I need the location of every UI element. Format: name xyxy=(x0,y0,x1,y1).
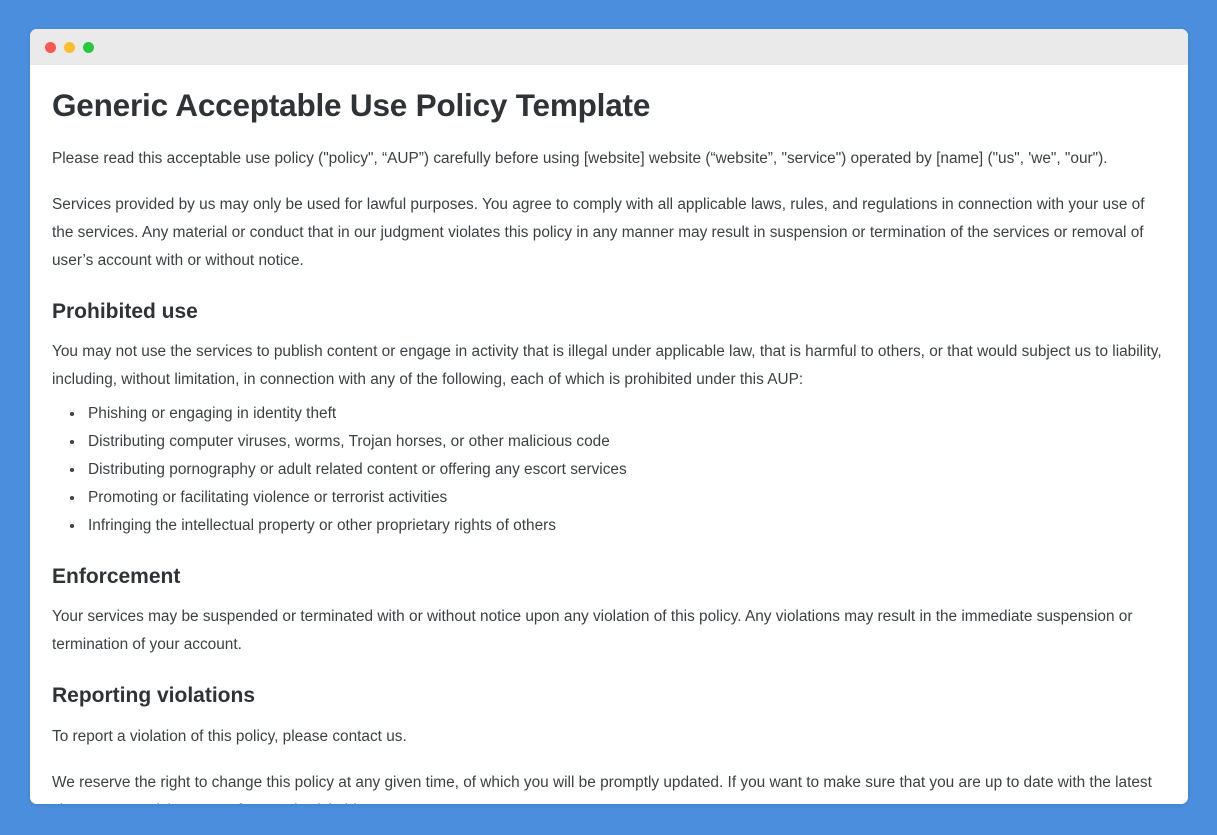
closing-paragraph: We reserve the right to change this poli… xyxy=(52,769,1162,804)
close-button[interactable] xyxy=(45,42,56,53)
section-paragraph-reporting-violations: To report a violation of this policy, pl… xyxy=(52,723,1162,751)
section-heading-enforcement: Enforcement xyxy=(52,564,1162,590)
browser-window: Generic Acceptable Use Policy Template P… xyxy=(30,29,1188,804)
list-item: Distributing pornography or adult relate… xyxy=(70,456,1162,484)
section-heading-reporting-violations: Reporting violations xyxy=(52,683,1162,709)
page-title: Generic Acceptable Use Policy Template xyxy=(52,87,1162,125)
document-body: Generic Acceptable Use Policy Template P… xyxy=(30,65,1188,804)
intro-paragraph-1: Please read this acceptable use policy (… xyxy=(52,145,1162,173)
list-item: Promoting or facilitating violence or te… xyxy=(70,484,1162,512)
list-item: Distributing computer viruses, worms, Tr… xyxy=(70,428,1162,456)
maximize-button[interactable] xyxy=(83,42,94,53)
list-item: Phishing or engaging in identity theft xyxy=(70,400,1162,428)
prohibited-use-list: Phishing or engaging in identity theft D… xyxy=(52,400,1162,540)
minimize-button[interactable] xyxy=(64,42,75,53)
section-paragraph-enforcement: Your services may be suspended or termin… xyxy=(52,603,1162,659)
list-item: Infringing the intellectual property or … xyxy=(70,512,1162,540)
section-heading-prohibited-use: Prohibited use xyxy=(52,299,1162,325)
section-paragraph-prohibited-use: You may not use the services to publish … xyxy=(52,338,1162,394)
window-titlebar xyxy=(30,29,1188,65)
intro-paragraph-2: Services provided by us may only be used… xyxy=(52,191,1162,275)
